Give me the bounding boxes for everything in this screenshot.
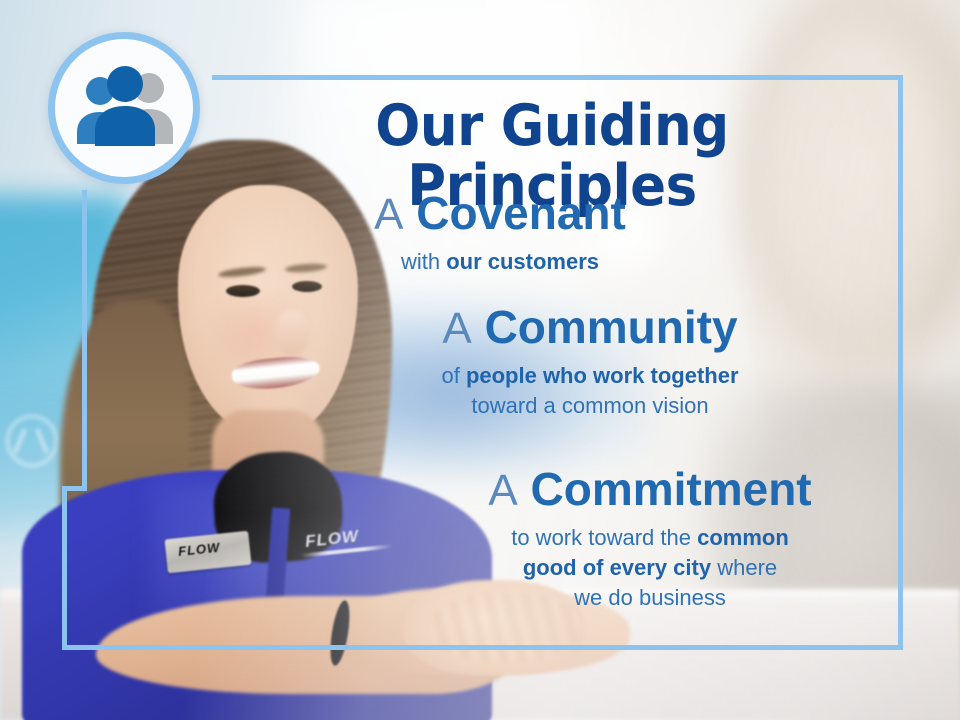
woman-eye-left: [226, 285, 260, 297]
woman-eye-right: [292, 281, 322, 292]
guiding-principles-poster: FLOW FLOW Our: [0, 0, 960, 720]
bokeh-highlight: [590, 205, 660, 265]
blurred-vehicle-logo-icon: [6, 415, 58, 467]
woman-nose: [276, 310, 310, 356]
people-group-icon: [72, 62, 178, 154]
finger-detail: [430, 592, 580, 662]
